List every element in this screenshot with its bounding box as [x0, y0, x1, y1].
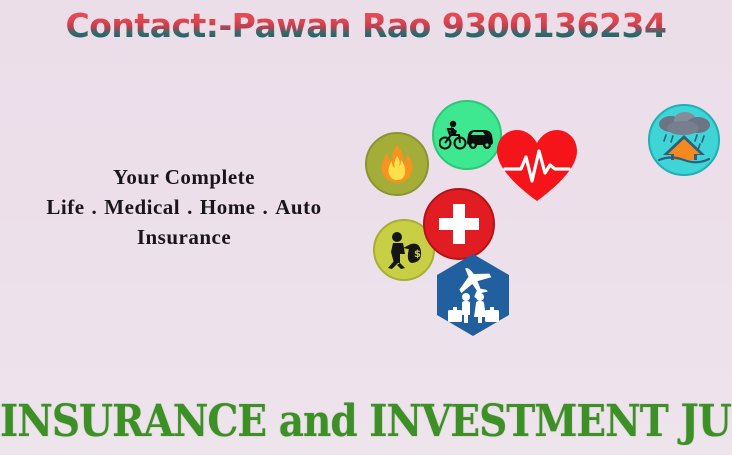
tagline-term-medical: Medical — [104, 195, 180, 219]
tagline-separator: . — [180, 193, 200, 223]
heart-health-icon — [495, 127, 579, 203]
contact-headline: Contact:-Pawan Rao 9300136234 — [0, 6, 732, 45]
weather-home-icon — [648, 104, 720, 176]
artwork-cluster: $ — [355, 85, 732, 370]
tagline-separator: . — [256, 193, 276, 223]
tagline-line-2: Life.Medical.Home.Auto — [8, 193, 360, 223]
medical-cross-icon — [423, 188, 495, 260]
tagline-term-life: Life — [46, 195, 84, 219]
vehicle-icon — [432, 100, 502, 170]
fire-icon — [365, 132, 429, 196]
tagline-line-1: Your Complete — [8, 163, 360, 193]
tagline-term-home: Home — [200, 195, 256, 219]
bottom-banner-title: INSURANCE and INVESTMENT JUNCTION — [0, 395, 732, 447]
cross-glyph — [436, 201, 482, 247]
tagline-term-auto: Auto — [275, 195, 321, 219]
flame-glyph — [378, 143, 416, 185]
storm-house-glyph — [653, 110, 715, 170]
travel-icon — [435, 253, 511, 337]
svg-text:$: $ — [414, 249, 421, 260]
motorcycle-car-glyph — [439, 118, 495, 152]
tagline-block: Your Complete Life.Medical.Home.Auto Ins… — [8, 163, 360, 252]
tagline-separator: . — [85, 193, 105, 223]
burglar-glyph: $ — [383, 230, 425, 270]
tagline-line-3: Insurance — [8, 223, 360, 253]
insurance-promo-banner: Contact:-Pawan Rao 9300136234 Your Compl… — [0, 0, 732, 455]
